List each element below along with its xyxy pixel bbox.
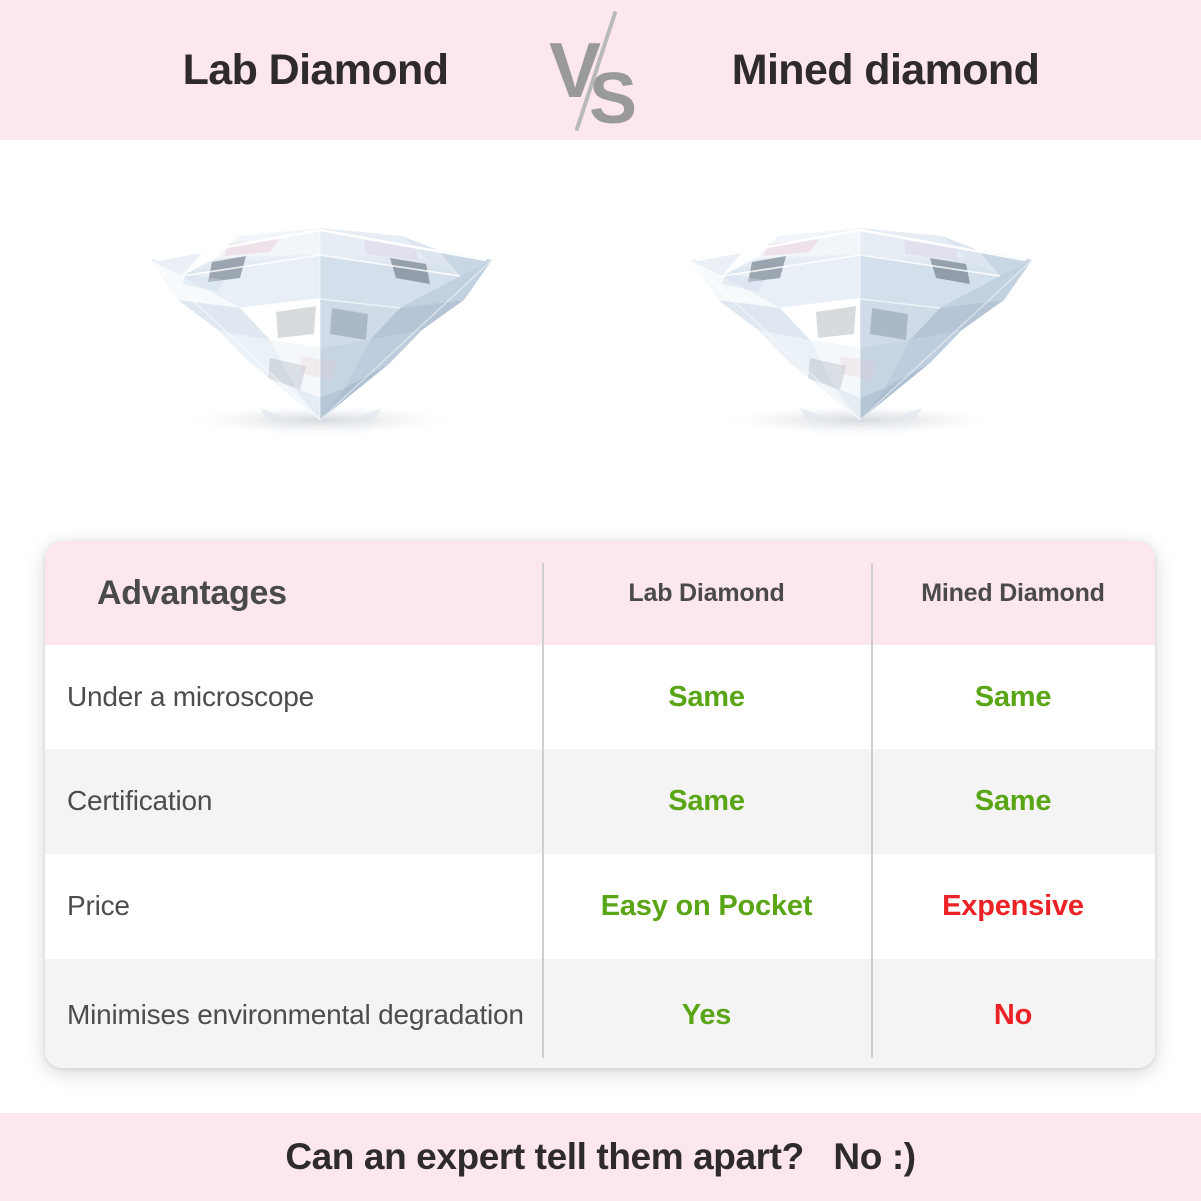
row-mined-value: Expensive — [871, 890, 1155, 923]
row-lab-value: Same — [542, 681, 871, 714]
column-header-advantages: Advantages — [45, 574, 542, 613]
bottom-banner: Can an expert tell them apart? No :) — [0, 1113, 1201, 1201]
bottom-banner-text: Can an expert tell them apart? No :) — [285, 1136, 915, 1178]
row-lab-value: Yes — [542, 999, 871, 1032]
lab-diamond-title: Lab Diamond — [101, 46, 531, 95]
row-feature-label: Certification — [45, 783, 542, 820]
table-row: Price Easy on Pocket Expensive — [45, 854, 1155, 959]
row-lab-value: Easy on Pocket — [542, 890, 871, 923]
table-row: Under a microscope Same Same — [45, 645, 1155, 749]
row-lab-value: Same — [542, 785, 871, 818]
table-row: Minimises environmental degradation Yes … — [45, 959, 1155, 1068]
column-header-lab-diamond: Lab Diamond — [542, 579, 871, 608]
diamond-illustration — [660, 158, 1060, 448]
top-banner: Lab Diamond V S Mined diamond — [0, 0, 1201, 140]
row-mined-value: Same — [871, 681, 1155, 714]
diamond-images-area — [0, 140, 1201, 530]
row-feature-label: Minimises environmental degradation — [45, 997, 542, 1034]
table-header-row: Advantages Lab Diamond Mined Diamond — [45, 541, 1155, 645]
comparison-table-card: Advantages Lab Diamond Mined Diamond Und… — [45, 541, 1155, 1068]
row-feature-label: Price — [45, 888, 542, 925]
column-header-mined-diamond: Mined Diamond — [871, 579, 1155, 608]
versus-badge: V S — [531, 5, 671, 135]
row-feature-label: Under a microscope — [45, 679, 542, 716]
versus-icon: V S — [531, 5, 671, 135]
top-banner-inner: Lab Diamond V S Mined diamond — [0, 5, 1201, 135]
diamond-illustration — [120, 158, 520, 448]
mined-diamond-photo — [660, 158, 1060, 448]
mined-diamond-title: Mined diamond — [671, 46, 1101, 95]
row-mined-value: Same — [871, 785, 1155, 818]
row-mined-value: No — [871, 999, 1155, 1032]
table-row: Certification Same Same — [45, 749, 1155, 854]
lab-diamond-photo — [120, 158, 520, 448]
